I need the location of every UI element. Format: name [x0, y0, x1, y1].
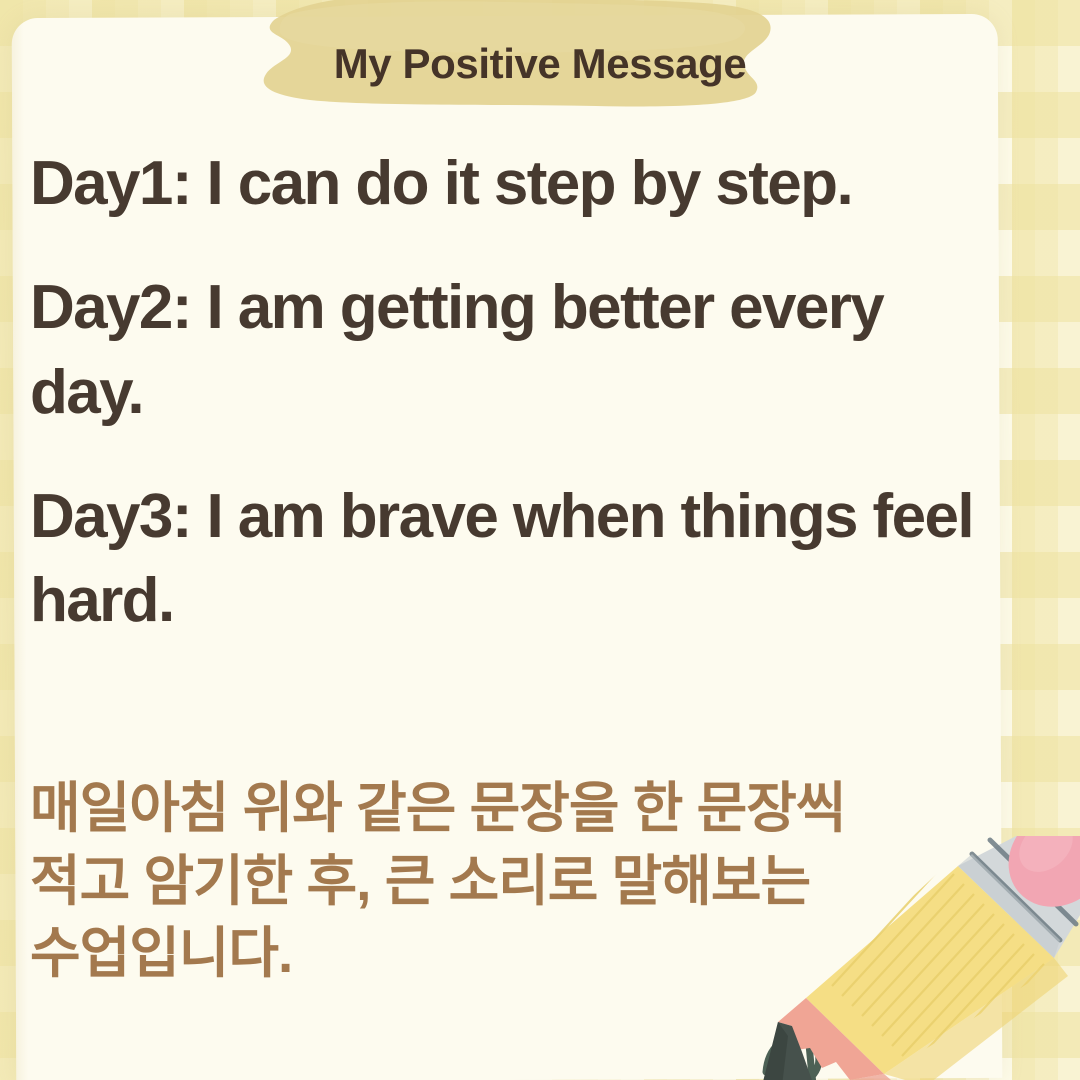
affirmation-day3: Day3: I am brave when things feel hard. — [30, 475, 1010, 644]
korean-note-line-3: 수업입니다. — [30, 917, 1042, 990]
page-title: My Positive Message — [0, 40, 1080, 88]
korean-note-line-2: 적고 암기한 후, 큰 소리로 말해보는 — [30, 845, 1042, 918]
korean-note: 매일아침 위와 같은 문장을 한 문장씩 적고 암기한 후, 큰 소리로 말해보… — [30, 772, 1042, 990]
content-layer: My Positive Message Day1: I can do it st… — [0, 0, 1080, 1080]
korean-note-line-1: 매일아침 위와 같은 문장을 한 문장씩 — [30, 772, 1042, 845]
pencil-graphite-tip — [762, 1022, 814, 1080]
affirmation-day2: Day2: I am getting better every day. — [30, 266, 1010, 435]
scribble-doodle-icon — [766, 1034, 854, 1080]
affirmation-day1: Day1: I can do it step by step. — [30, 142, 1010, 226]
pencil-wood-tip — [778, 998, 898, 1080]
title-block: My Positive Message — [0, 0, 1080, 130]
affirmations-list: Day1: I can do it step by step. Day2: I … — [30, 142, 1010, 644]
